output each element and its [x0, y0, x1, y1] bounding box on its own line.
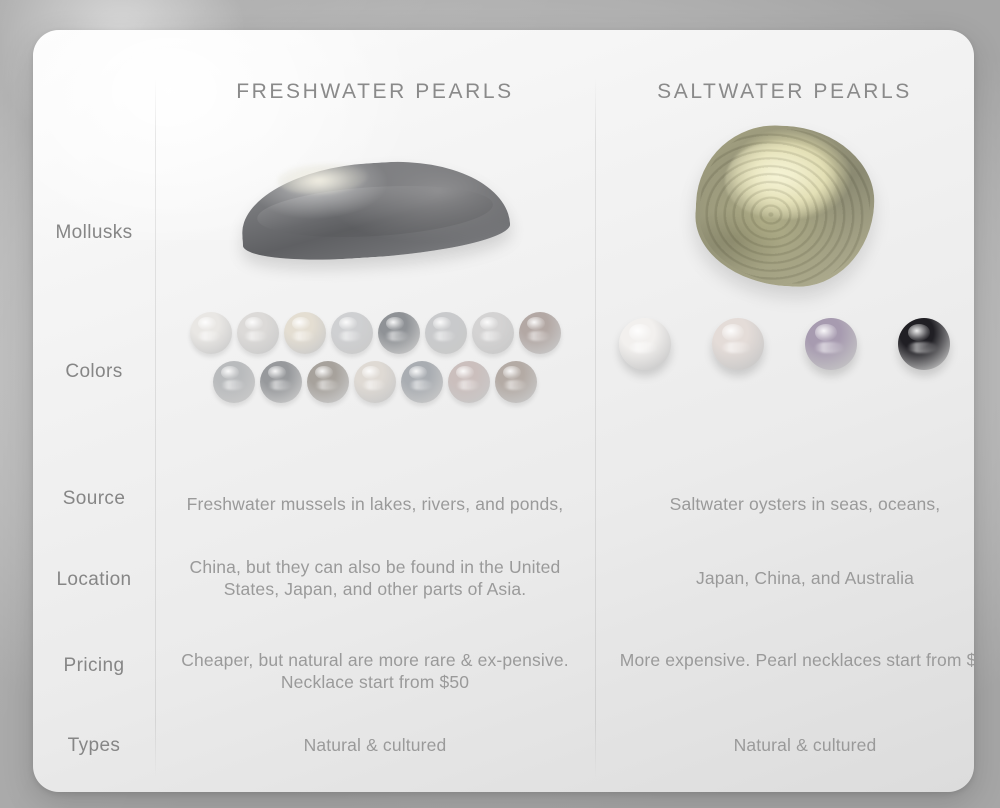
cell-mollusks-saltwater	[595, 116, 974, 296]
freshwater-mussel-shell	[238, 155, 511, 265]
cell-types-freshwater: Natural & cultured	[163, 735, 587, 757]
pearl-swatch	[448, 361, 490, 403]
row-label-source: Source	[33, 488, 155, 510]
pearl-swatch	[898, 318, 950, 370]
column-header-freshwater: FRESHWATER PEARLS	[155, 80, 595, 104]
pearl-swatch	[331, 312, 373, 354]
pearl-swatch	[237, 312, 279, 354]
cell-pricing-freshwater: Cheaper, but natural are more rare & ex-…	[163, 650, 587, 693]
pearl-swatch	[805, 318, 857, 370]
cell-location-freshwater: China, but they can also be found in the…	[163, 557, 587, 600]
comparison-card: FRESHWATER PEARLS SALTWATER PEARLS Mollu…	[33, 30, 974, 792]
cell-colors-saltwater	[595, 318, 974, 370]
cell-location-saltwater: Japan, China, and Australia	[603, 568, 974, 590]
pearl-swatch	[619, 318, 671, 370]
saltwater-oyster-shell	[691, 121, 877, 290]
pearl-swatch	[307, 361, 349, 403]
pearl-swatch	[401, 361, 443, 403]
column-header-saltwater: SALTWATER PEARLS	[595, 80, 974, 104]
row-label-mollusks: Mollusks	[33, 222, 155, 244]
comparison-grid: FRESHWATER PEARLS SALTWATER PEARLS Mollu…	[33, 30, 974, 792]
row-label-pricing: Pricing	[33, 655, 155, 677]
cell-source-saltwater: Saltwater oysters in seas, oceans,	[603, 494, 974, 516]
pearl-swatch	[213, 361, 255, 403]
freshwater-pearl-row-2	[155, 361, 595, 403]
row-label-colors: Colors	[33, 361, 155, 383]
pearl-swatch	[425, 312, 467, 354]
row-label-location: Location	[33, 569, 155, 591]
pearl-swatch	[378, 312, 420, 354]
pearl-swatch	[354, 361, 396, 403]
cell-source-freshwater: Freshwater mussels in lakes, rivers, and…	[163, 494, 587, 516]
pearl-swatch	[712, 318, 764, 370]
pearl-swatch	[190, 312, 232, 354]
pearl-swatch	[260, 361, 302, 403]
row-label-types: Types	[33, 735, 155, 757]
pearl-swatch	[472, 312, 514, 354]
cell-pricing-saltwater: More expensive. Pearl necklaces start fr…	[603, 650, 974, 672]
pearl-swatch	[284, 312, 326, 354]
saltwater-pearl-row-1	[595, 318, 974, 370]
pearl-swatch	[495, 361, 537, 403]
pearl-swatch	[519, 312, 561, 354]
freshwater-pearl-row-1	[155, 312, 595, 354]
cell-types-saltwater: Natural & cultured	[603, 735, 974, 757]
cell-mollusks-freshwater	[155, 130, 595, 290]
row-label-column: Mollusks Colors Source Location Pricing …	[33, 30, 155, 792]
cell-colors-freshwater	[155, 312, 595, 403]
